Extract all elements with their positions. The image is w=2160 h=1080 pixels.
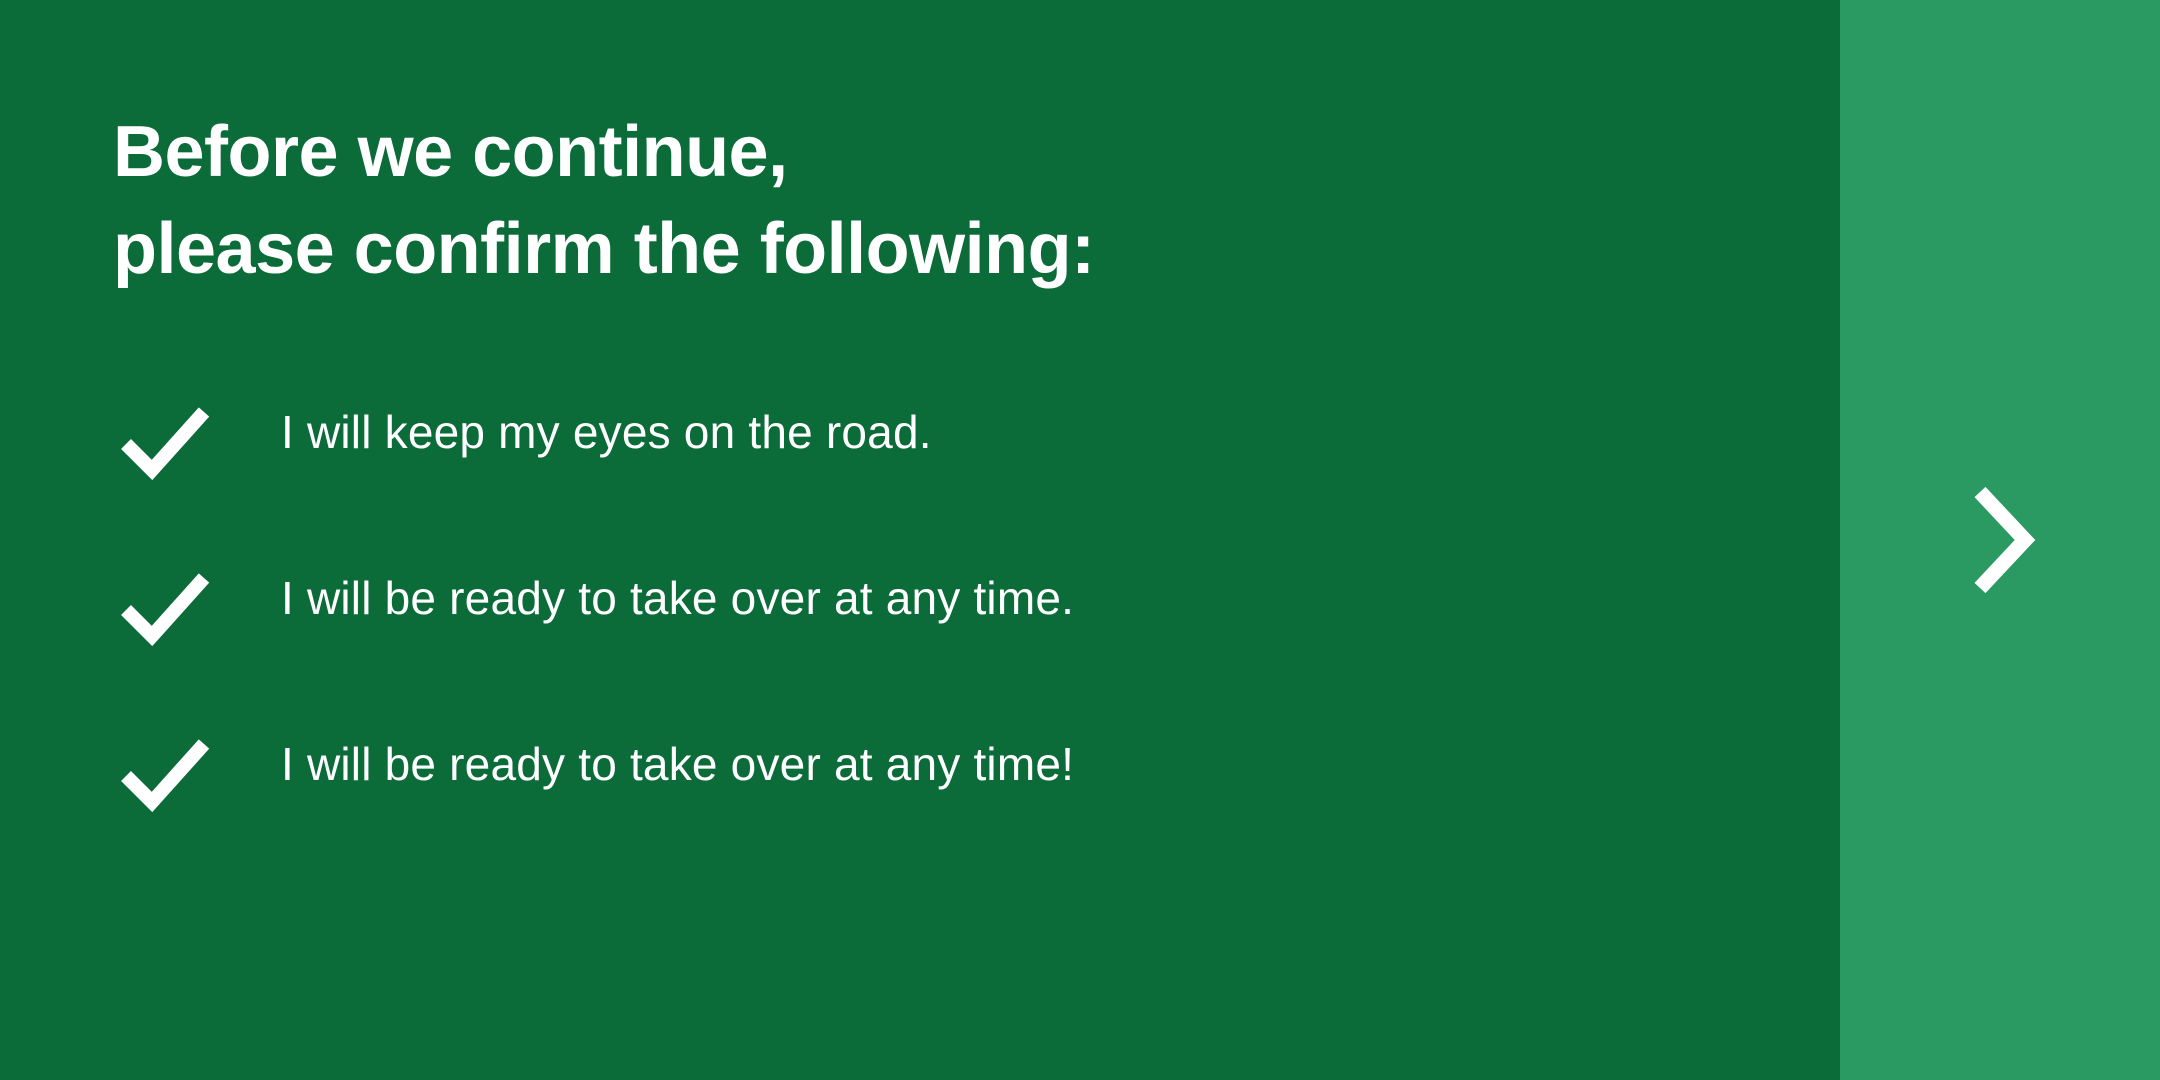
list-item[interactable]: I will be ready to take over at any time…	[113, 564, 1713, 730]
confirmation-checklist: I will keep my eyes on the road. I will …	[113, 398, 1713, 896]
list-item[interactable]: I will be ready to take over at any time…	[113, 730, 1713, 896]
list-item[interactable]: I will keep my eyes on the road.	[113, 398, 1713, 564]
list-item-label: I will keep my eyes on the road.	[281, 398, 932, 461]
page-title-line-2: please confirm the following:	[113, 201, 1095, 298]
list-item-label: I will be ready to take over at any time…	[281, 730, 1074, 793]
confirmation-screen: Before we continue, please confirm the f…	[0, 0, 2160, 1080]
next-button[interactable]	[1840, 0, 2160, 1080]
chevron-right-icon	[1955, 480, 2045, 600]
main-panel: Before we continue, please confirm the f…	[0, 0, 1840, 1080]
page-title-line-1: Before we continue,	[113, 104, 1095, 201]
page-title: Before we continue, please confirm the f…	[113, 104, 1095, 298]
check-icon	[113, 398, 281, 488]
check-icon	[113, 564, 281, 654]
list-item-label: I will be ready to take over at any time…	[281, 564, 1074, 627]
check-icon	[113, 730, 281, 820]
